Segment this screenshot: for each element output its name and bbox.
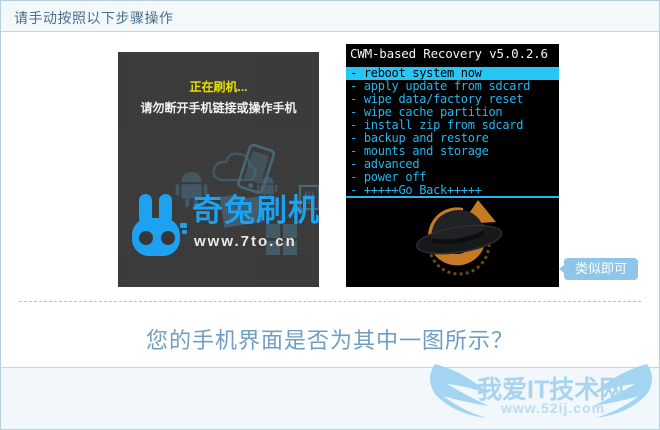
section-divider [19, 301, 641, 302]
flashing-progress-screenshot: 坐 正在刷机... 请勿断开手机链接或操作手机 [118, 52, 319, 287]
brand-name-text: 奇兔刷机 [192, 195, 319, 226]
rabbit-logo-icon [130, 193, 192, 261]
flashing-status-text: 正在刷机... [118, 78, 319, 95]
confirmation-question: 您的手机界面是否为其中一图所示？ [1, 323, 659, 355]
watermark-url: www.52ij.com [501, 400, 605, 416]
dialog-header: 请手动按照以下步骤操作 [1, 1, 659, 32]
clockworkmod-hat-icon [404, 196, 514, 282]
dialog-content: 坐 正在刷机... 请勿断开手机链接或操作手机 [1, 33, 659, 367]
cwm-recovery-screenshot: CWM-based Recovery v5.0.2.6 - reboot sys… [346, 44, 559, 287]
dialog-footer: 我爱IT技术网 www.52ij.com [1, 367, 659, 429]
page-title: 请手动按照以下步骤操作 [14, 8, 174, 28]
brand-url-text: www.7to.cn [194, 233, 297, 250]
dialog-window: 请手动按照以下步骤操作 [0, 0, 660, 430]
site-watermark: 我爱IT技术网 www.52ij.com [429, 356, 653, 430]
cwm-menu-list: - reboot system now - apply update from … [346, 67, 559, 197]
similar-is-ok-callout: 类似即可 [564, 258, 638, 280]
qitu-brand-logo: 奇兔刷机 www.7to.cn [128, 189, 309, 265]
cwm-title-text: CWM-based Recovery v5.0.2.6 [350, 46, 548, 61]
flashing-warning-text: 请勿断开手机链接或操作手机 [118, 99, 319, 116]
